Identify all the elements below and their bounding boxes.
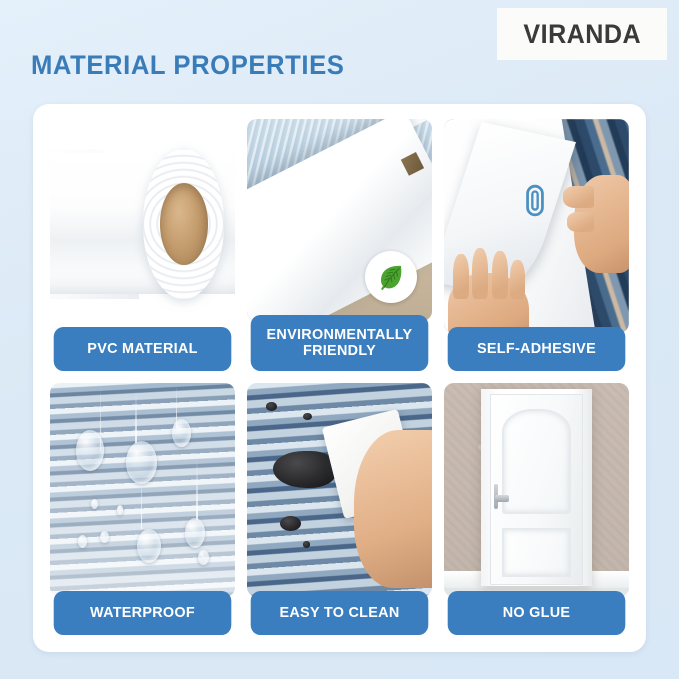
features-panel: PVC MATERIAL — [33, 104, 646, 652]
water-droplet — [198, 550, 209, 565]
stain-small — [280, 516, 300, 531]
feature-card-waterproof[interactable]: WATERPROOF — [50, 383, 235, 635]
hand-right — [574, 175, 630, 273]
water-droplet — [172, 419, 191, 447]
finger — [453, 254, 469, 299]
finger — [472, 248, 488, 299]
door-slab — [490, 394, 583, 585]
water-droplet — [78, 535, 87, 548]
water-droplet — [100, 531, 109, 544]
eco-wallpaper-illustration — [247, 119, 432, 321]
feature-label-waterproof: WATERPROOF — [54, 591, 232, 635]
water-droplet — [76, 430, 104, 471]
feature-card-self-adhesive[interactable]: SELF-ADHESIVE — [444, 119, 629, 371]
feature-card-pvc-material[interactable]: PVC MATERIAL — [50, 119, 235, 371]
feature-image-easy-to-clean — [247, 383, 432, 597]
water-streak — [196, 460, 198, 520]
feature-image-self-adhesive — [444, 119, 629, 333]
door-handle — [495, 495, 510, 501]
water-droplet — [126, 441, 157, 484]
feature-image-environmentally-friendly — [247, 119, 432, 321]
easy-to-clean-illustration — [247, 383, 432, 597]
no-glue-illustration — [444, 383, 629, 597]
stain-small — [303, 413, 312, 420]
feature-card-no-glue[interactable]: NO GLUE — [444, 383, 629, 635]
feature-label-no-glue: NO GLUE — [448, 591, 626, 635]
pvc-roll-illustration — [50, 119, 235, 333]
brand-name: VIRANDA — [523, 19, 641, 50]
feature-card-easy-to-clean[interactable]: EASY TO CLEAN — [247, 383, 432, 635]
door-panel-bottom — [502, 528, 571, 577]
features-grid: PVC MATERIAL — [50, 119, 629, 635]
feature-image-pvc-material — [50, 119, 235, 333]
feature-label-line1: ENVIRONMENTALLY — [267, 326, 413, 343]
finger — [492, 251, 508, 299]
waterproof-illustration — [50, 383, 235, 597]
door-panel-top — [502, 409, 571, 515]
water-streak — [135, 392, 137, 443]
water-droplet — [137, 529, 161, 563]
feature-card-environmentally-friendly[interactable]: ENVIRONMENTALLY FRIENDLY — [247, 119, 432, 371]
roll-cardboard-core — [160, 183, 208, 264]
self-adhesive-illustration — [444, 119, 629, 333]
hand-left — [448, 273, 529, 333]
door-frame — [481, 389, 592, 586]
leaf-badge — [365, 251, 417, 303]
water-droplet — [185, 518, 205, 548]
finger — [567, 212, 593, 232]
leaf-icon — [375, 261, 407, 293]
feature-label-self-adhesive: SELF-ADHESIVE — [448, 327, 626, 371]
feature-label-environmentally-friendly: ENVIRONMENTALLY FRIENDLY — [251, 315, 429, 371]
feature-label-easy-to-clean: EASY TO CLEAN — [251, 591, 429, 635]
infographic-page: VIRANDA MATERIAL PROPERTIES PVC MATERIAL — [0, 0, 679, 679]
finger — [510, 260, 525, 299]
feature-image-no-glue — [444, 383, 629, 597]
water-droplet — [91, 499, 98, 510]
finger — [563, 186, 593, 208]
feature-label-line2: FRIENDLY — [303, 342, 376, 359]
feature-label-pvc-material: PVC MATERIAL — [54, 327, 232, 371]
brand-logo-plate: VIRANDA — [497, 8, 667, 60]
paperclip-icon — [518, 183, 552, 217]
stain-large — [273, 451, 336, 487]
hand-holding-cloth — [354, 430, 432, 588]
water-droplet — [117, 505, 123, 515]
feature-image-waterproof — [50, 383, 235, 597]
page-title: MATERIAL PROPERTIES — [31, 50, 344, 81]
stain-small — [303, 541, 310, 547]
stain-small — [266, 402, 277, 411]
